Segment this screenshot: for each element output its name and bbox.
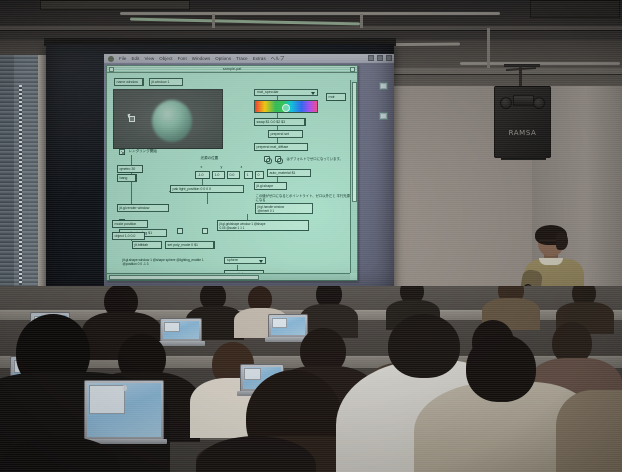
ceiling-panel-left: [40, 0, 190, 10]
laptop-lid: [84, 380, 164, 440]
patch-comment-lightmode: この値がゼロになるとポイントライト、ゼロ以外だと 平行光源になる: [254, 193, 354, 203]
patch-canvas[interactable]: name window jit.window 1 mat_specular rn…: [107, 73, 357, 280]
lecture-hall-photo: File Edit View Object Font Windows Optio…: [0, 0, 622, 472]
presenter-hair-side: [556, 232, 568, 250]
laptop-window: [244, 368, 261, 380]
hue-selector-knob[interactable]: [282, 104, 290, 112]
patch-object-name-window[interactable]: name window: [114, 78, 144, 86]
menu-item-extras[interactable]: Extras: [253, 56, 266, 61]
menu-item-windows[interactable]: Windows: [192, 56, 211, 61]
speaker-driver-left: [500, 97, 512, 109]
patch-title: sample.pat: [223, 67, 242, 71]
laptop-window: [164, 322, 180, 332]
patch-message-swap[interactable]: swap $1 0.0 $2 $3: [254, 118, 306, 126]
number-box-object[interactable]: object 1.0 0.0: [112, 232, 145, 240]
patch-comment-light-pos: 光源の位置: [199, 155, 233, 161]
ceiling-hanger-a: [212, 14, 215, 28]
jit-render-viewport[interactable]: [113, 89, 223, 149]
audience-head: [388, 314, 460, 378]
patch-object-jit-gl-shape[interactable]: jit.gl.shape: [254, 182, 287, 190]
audience-laptop-apple: [84, 380, 164, 440]
speaker-mount-post: [519, 66, 522, 88]
shape-dropdown[interactable]: sphere: [224, 257, 266, 264]
folder-icon[interactable]: [379, 112, 388, 120]
patch-cord: [131, 180, 132, 204]
patch-object-mode-position[interactable]: mode position: [112, 220, 148, 228]
patch-object-jit-bitblah[interactable]: jit.bitblah: [132, 241, 162, 249]
bang-button[interactable]: [264, 156, 270, 162]
wall-mounted-loudspeaker: RAMSA: [494, 86, 551, 158]
arrow-cursor: [128, 114, 134, 121]
speaker-horn: [513, 95, 534, 106]
patch-object-qmetro[interactable]: qmetro 30: [117, 165, 143, 173]
patch-object-auto-material[interactable]: auto_material $1: [267, 169, 311, 177]
clock-icon[interactable]: [368, 55, 374, 61]
menu-item-trace[interactable]: Trace: [236, 56, 248, 61]
patch-object-jit-gl-gridshape[interactable]: jit.gl.gridshape window 1 @shape 0.05 @s…: [217, 220, 309, 231]
laptop-lid: [160, 318, 202, 342]
ceiling-conduit-a: [120, 12, 500, 15]
close-button[interactable]: [109, 67, 114, 72]
rendered-sphere: [152, 100, 192, 142]
vertical-scrollbar[interactable]: [350, 80, 357, 273]
patch-window[interactable]: sample.pat: [106, 65, 358, 281]
patch-label-z: z: [239, 164, 247, 170]
zoom-button[interactable]: [350, 67, 355, 72]
patch-cord: [207, 191, 208, 204]
audience-laptop: [160, 318, 202, 342]
patch-object-pak-light[interactable]: pak light_position 0 0 0 0: [170, 185, 244, 193]
audience-head: [466, 334, 536, 402]
ceiling-beam-upper: [0, 26, 622, 30]
toggle-polymode-a[interactable]: [177, 228, 183, 234]
patch-label-x: x: [199, 164, 207, 170]
apple-logo-icon: [122, 385, 127, 391]
menu-bar[interactable]: File Edit View Object Font Windows Optio…: [104, 54, 394, 63]
audience-area: [0, 286, 622, 472]
number-box-x[interactable]: -1.0: [195, 171, 210, 179]
horizontal-scrollbar-thumb[interactable]: [109, 275, 259, 280]
menu-item-object[interactable]: Object: [159, 56, 172, 61]
audience-laptop: [268, 314, 308, 338]
patch-message-bang[interactable]: bang: [117, 174, 137, 182]
speaker-brand-label: RAMSA: [495, 129, 550, 137]
apple-icon[interactable]: [108, 56, 114, 62]
projection-screen-surface: File Edit View Object Font Windows Optio…: [46, 44, 394, 292]
speaker-base: [501, 157, 546, 160]
blind-pull-chain[interactable]: [19, 85, 22, 285]
patch-message-poly-mode[interactable]: set poly_mode 0 $1: [165, 241, 215, 249]
patch-object-prepend-mat[interactable]: prepend mat_diffuse: [254, 143, 308, 151]
vertical-scrollbar-thumb[interactable]: [352, 82, 357, 202]
window-blinds-edge: [0, 55, 14, 295]
ceiling-conduit-c: [460, 62, 620, 65]
laptop-base: [157, 341, 205, 346]
laptop-window: [89, 385, 125, 414]
menu-item-view[interactable]: View: [144, 56, 154, 61]
number-box-w[interactable]: 1: [244, 171, 253, 179]
hue-gradient-swatch[interactable]: [254, 100, 318, 113]
help-icon[interactable]: [386, 55, 392, 61]
presenter-glasses: [539, 240, 556, 244]
patch-object-jit-gl-handle[interactable]: jit.gl.handle window @inherit 0 1: [255, 203, 313, 214]
patch-cord: [202, 178, 203, 185]
bang-button[interactable]: [275, 156, 281, 162]
number-box-v[interactable]: 0: [255, 171, 264, 179]
menu-item-edit[interactable]: Edit: [131, 56, 139, 61]
patch-titlebar[interactable]: sample.pat: [107, 66, 357, 73]
horizontal-scrollbar[interactable]: [107, 273, 350, 280]
toggle-polymode-b[interactable]: [202, 228, 208, 234]
projected-desktop: File Edit View Object Font Windows Optio…: [104, 54, 394, 289]
projection-screen: File Edit View Object Font Windows Optio…: [46, 44, 394, 292]
laptop-lid: [268, 314, 308, 338]
ceiling-duct-box: [530, 0, 620, 18]
disk-icon[interactable]: [379, 82, 388, 90]
menu-item-options[interactable]: Options: [215, 56, 231, 61]
menu-item-help[interactable]: ヘルプ: [271, 56, 284, 61]
menu-item-file[interactable]: File: [119, 56, 126, 61]
number-box-y[interactable]: 1.0: [212, 171, 225, 179]
menu-item-font[interactable]: Font: [178, 56, 187, 61]
ceiling-pipe-vertical: [487, 28, 490, 68]
patch-object-jit-gl-render[interactable]: jit.gl.render window: [117, 204, 169, 212]
volume-icon[interactable]: [377, 55, 383, 61]
patch-object-jit-window[interactable]: jit.window 1: [149, 78, 183, 86]
patch-comment-default: はデフォルトでゼロになっています。: [285, 156, 357, 162]
patch-cord: [131, 155, 132, 165]
presenter-collar: [539, 258, 563, 265]
patch-comment-gl-shape: jit.gl.shape window 1 @shape sphere @lig…: [121, 257, 211, 267]
material-dropdown[interactable]: mat_specular: [254, 89, 318, 96]
patch-comment-render-start: レンダリング開始: [127, 148, 175, 154]
number-box-z[interactable]: 0.0: [227, 171, 240, 179]
laptop-window: [272, 318, 287, 328]
patch-label-y: y: [219, 164, 227, 170]
speaker-driver-right: [533, 97, 545, 109]
patch-object-prepend-set[interactable]: prepend set: [268, 130, 303, 138]
patch-object-rndr[interactable]: rndr: [326, 93, 346, 101]
menubar-status-icons: [368, 55, 392, 61]
ceiling-hanger-b: [360, 14, 363, 28]
audience-shoulders: [556, 390, 622, 472]
toggle-render[interactable]: [119, 149, 125, 155]
